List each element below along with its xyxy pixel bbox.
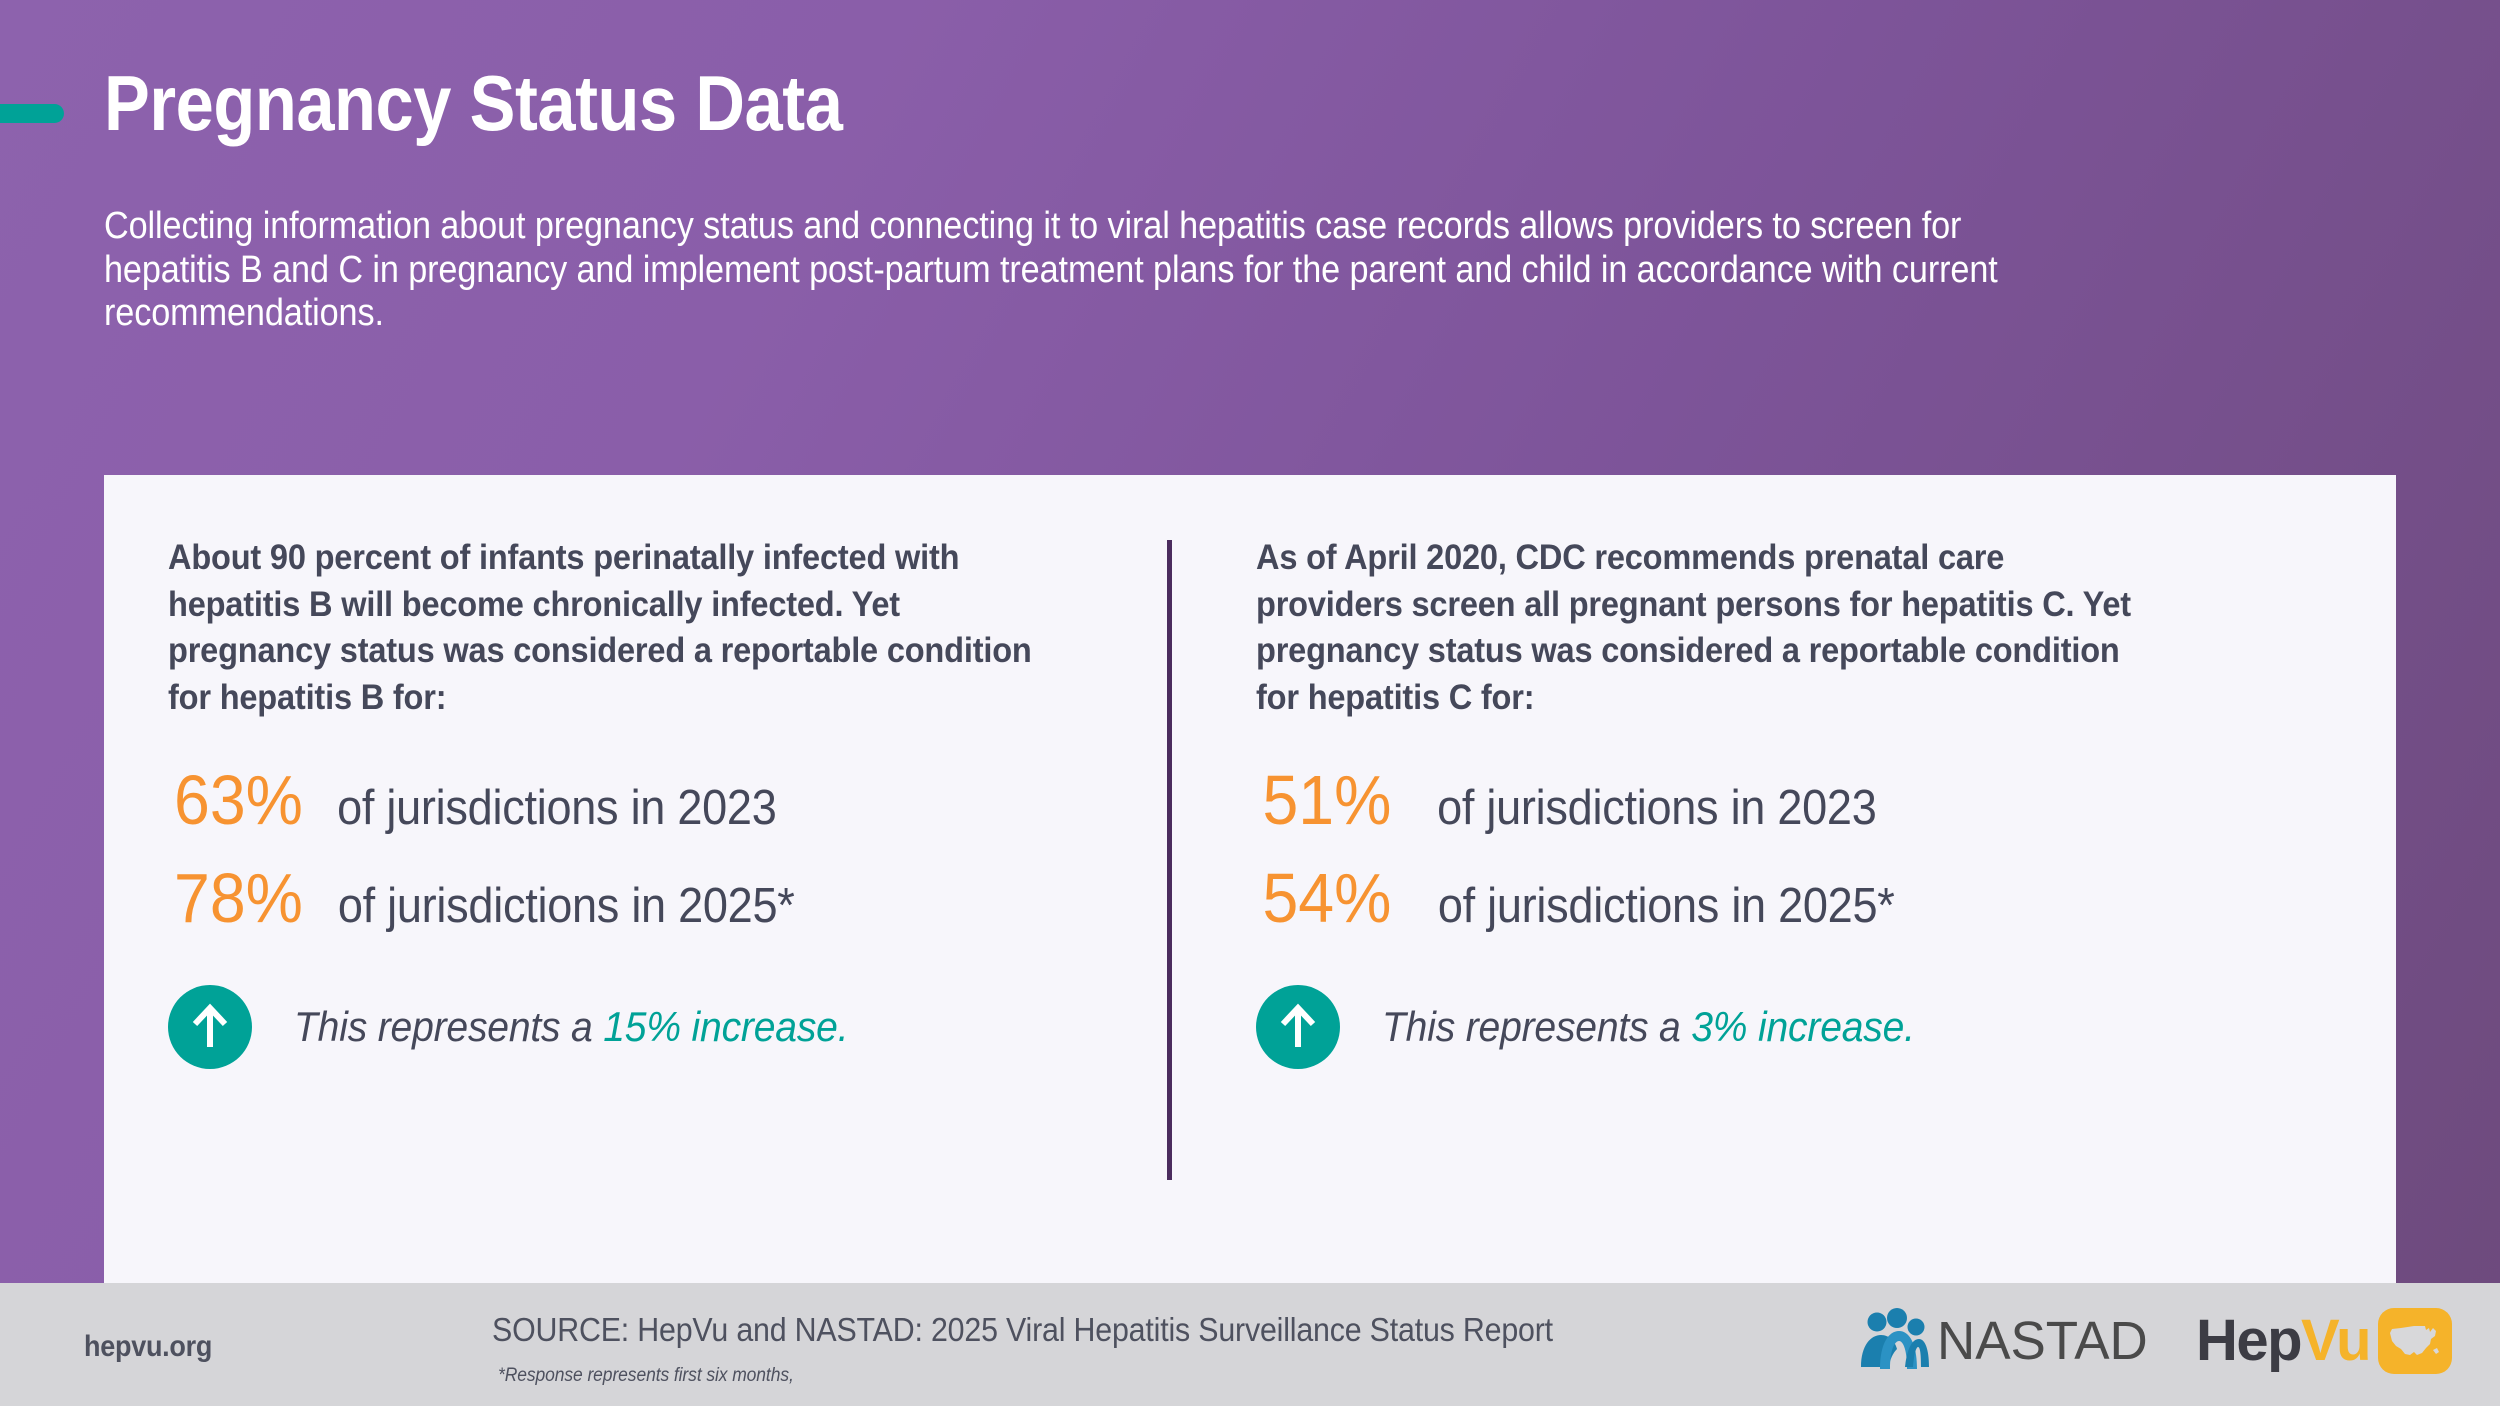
page-title: Pregnancy Status Data: [104, 64, 842, 142]
arrow-up-icon: [1256, 985, 1340, 1069]
column-heading: About 90 percent of infants perinatally …: [168, 535, 1061, 721]
column-heading: As of April 2020, CDC recommends prenata…: [1256, 535, 2149, 721]
hepvu-logo[interactable]: HepVu: [2196, 1307, 2452, 1374]
increase-text: This represents a 15% increase.: [294, 1003, 848, 1051]
content-card: About 90 percent of infants perinatally …: [104, 475, 2396, 1283]
increase-value: 15% increase.: [603, 1003, 848, 1050]
stat-row: 78% of jurisdictions in 2025*: [168, 863, 1128, 933]
title-accent-dash: [0, 104, 64, 123]
column-hepatitis-c: As of April 2020, CDC recommends prenata…: [1256, 535, 2216, 1069]
footer-logos: NASTAD HepVu: [1857, 1305, 2452, 1376]
intro-paragraph: Collecting information about pregnancy s…: [104, 205, 2021, 336]
increase-row: This represents a 3% increase.: [1256, 985, 2216, 1069]
nastad-logo[interactable]: NASTAD: [1857, 1305, 2152, 1376]
increase-row: This represents a 15% increase.: [168, 985, 1128, 1069]
stat-percent: 54%: [1262, 863, 1411, 933]
arrow-up-icon: [168, 985, 252, 1069]
nastad-people-icon: [1857, 1305, 1931, 1376]
footer-website[interactable]: hepvu.org: [84, 1330, 212, 1364]
footer-footnote: *Response represents first six months,: [498, 1365, 794, 1387]
increase-text: This represents a 3% increase.: [1382, 1003, 1915, 1051]
stat-percent: 63%: [174, 765, 312, 835]
footer-bar: hepvu.org SOURCE: HepVu and NASTAD: 2025…: [0, 1283, 2500, 1406]
stat-percent: 51%: [1262, 765, 1411, 835]
us-map-icon: [2378, 1308, 2452, 1374]
hepvu-vu-text: Vu: [2301, 1308, 2370, 1373]
stat-label: of jurisdictions in 2023: [337, 784, 776, 833]
increase-prefix: This represents a: [1382, 1003, 1691, 1050]
stat-label: of jurisdictions in 2025*: [338, 882, 795, 931]
column-divider: [1167, 540, 1172, 1180]
nastad-wordmark: NASTAD: [1937, 1310, 2148, 1372]
column-hepatitis-b: About 90 percent of infants perinatally …: [168, 535, 1128, 1069]
stat-row: 51% of jurisdictions in 2023: [1256, 765, 2216, 835]
stat-label: of jurisdictions in 2025*: [1438, 882, 1895, 931]
hepvu-hep-text: Hep: [2196, 1308, 2301, 1373]
stat-label: of jurisdictions in 2023: [1437, 784, 1876, 833]
stat-row: 63% of jurisdictions in 2023: [168, 765, 1128, 835]
footer-source: SOURCE: HepVu and NASTAD: 2025 Viral Hep…: [492, 1311, 1553, 1349]
stat-row: 54% of jurisdictions in 2025*: [1256, 863, 2216, 933]
increase-value: 3% increase.: [1691, 1003, 1915, 1050]
slide-root: Pregnancy Status Data Collecting informa…: [0, 0, 2500, 1406]
increase-prefix: This represents a: [294, 1003, 603, 1050]
stat-percent: 78%: [174, 863, 312, 933]
hepvu-wordmark: HepVu: [2196, 1307, 2370, 1374]
